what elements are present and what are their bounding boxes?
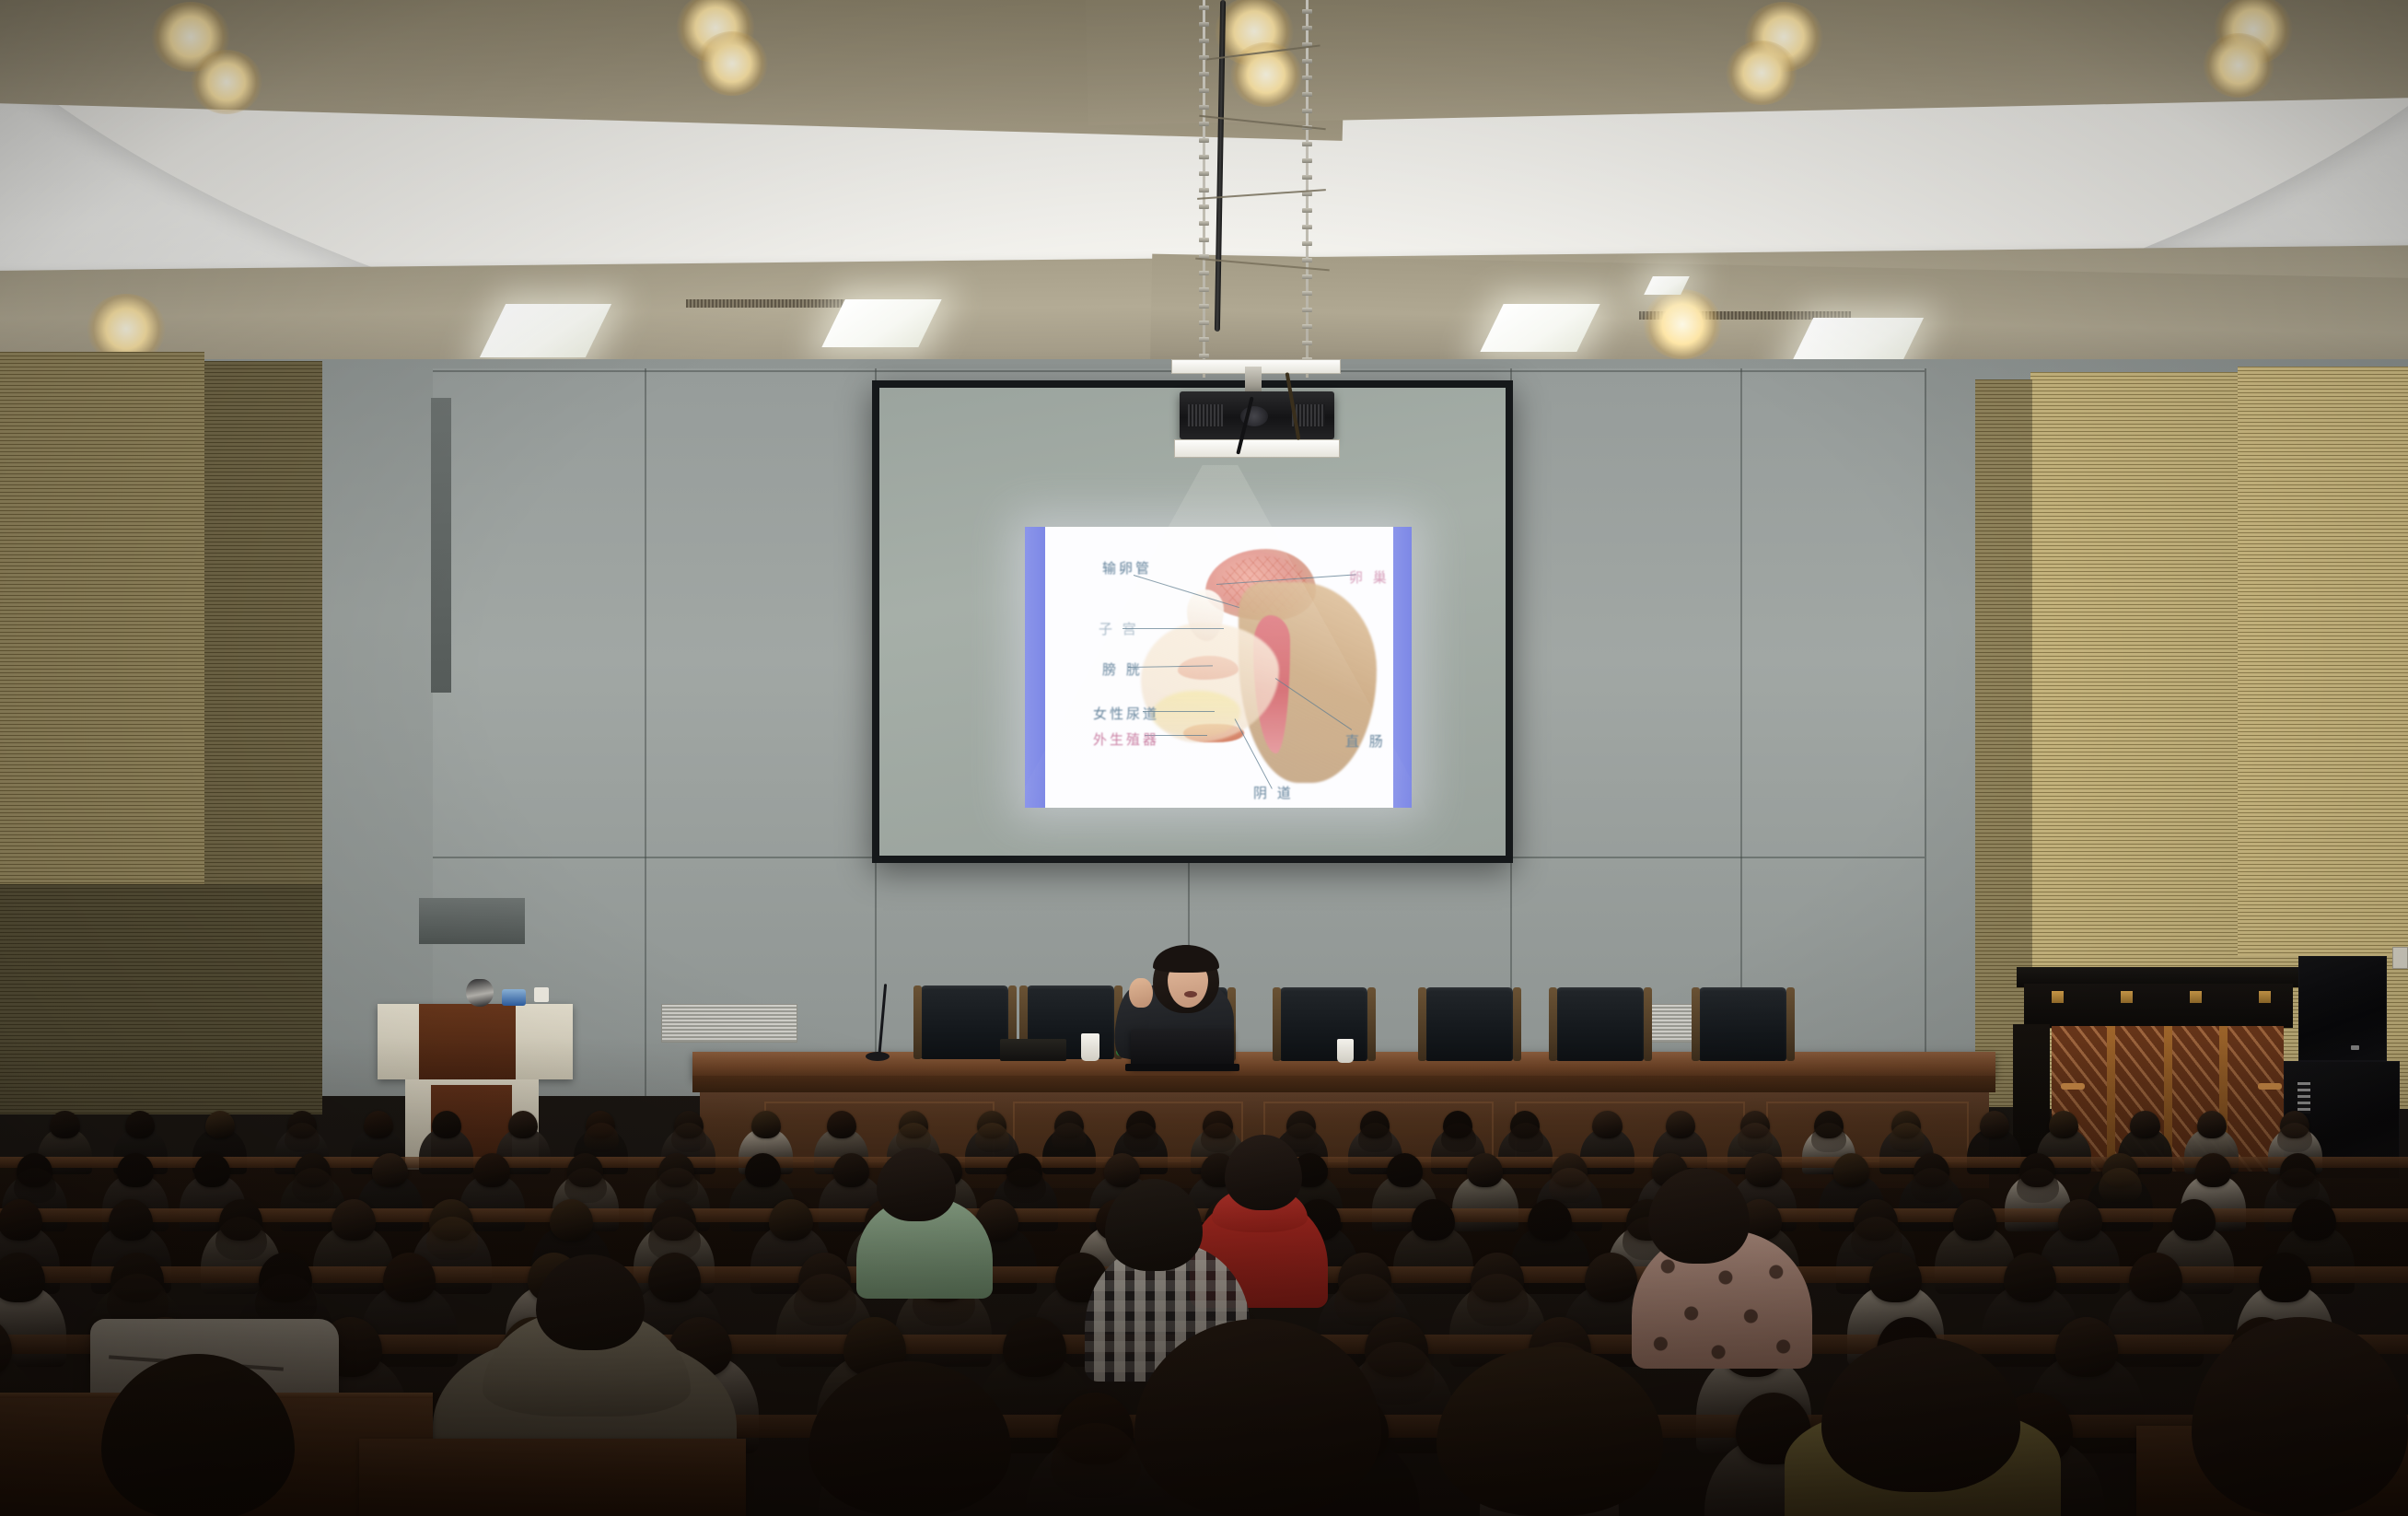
downlight-10-glow [2203,33,2274,98]
audience-member-head-r1-2 [194,1153,230,1187]
projector-rail-nut-left-18 [1199,304,1209,309]
audience-member-hairlock-r1-23 [2099,1168,2141,1204]
acoustic-panel-left-3 [0,884,322,1114]
projector-rail-nut-right-1 [1302,26,1312,30]
head-table-panel-1 [764,1102,995,1162]
head-table-riser [692,1076,1995,1092]
chair-1-arm-left [913,985,922,1059]
projector-rail-nut-right-0 [1302,9,1312,14]
downlight-4-glow [696,31,768,96]
projector-vent-left [1188,404,1223,426]
wall-plate-right [2392,947,2408,969]
projector-rail-nut-left-14 [1199,238,1209,242]
projector-rail-nut-left-2 [1199,39,1209,43]
audience-member-head-r0-26 [2049,1111,2078,1138]
piano-handle-left [2061,1083,2085,1090]
audience-member-head-r1-5 [474,1153,510,1187]
audience-member-head-r0-2 [205,1111,235,1138]
lecturer-laptop-base [1125,1064,1239,1071]
audience-member-head-r2-19 [2058,1199,2102,1241]
piano-brass-stud-3 [2190,991,2202,1003]
projector-rail-nut-left-17 [1199,287,1209,292]
wall-mount-screen-left [419,898,525,944]
projector-rail-nut-left-19 [1199,321,1209,325]
slide-label-ovary: 卵 巢 [1349,567,1390,587]
audience-member-hairlock-r0-8 [671,1123,706,1152]
paper-cup-center [1081,1033,1099,1061]
audience-member-head-r1-16 [1467,1153,1503,1187]
audience-member-head-r0-1 [125,1111,155,1138]
audience-member-head-r1-8 [745,1153,781,1187]
projector-rail-nut-right-5 [1302,92,1312,97]
audience-member-head-r2-1 [109,1199,153,1241]
paper-cup-right [1337,1039,1354,1063]
audience-member-hairlock-r0-18 [1441,1123,1476,1152]
projector-rail-nut-right-15 [1302,258,1312,262]
projector-rail-nut-left-20 [1199,337,1209,342]
wall-vent-left [661,1004,797,1043]
pa-speaker-top [2298,956,2387,1061]
projector-rail-nut-right-19 [1302,324,1312,329]
chair-6-arm-left [1549,987,1557,1061]
downlight-12-glow [1643,289,1722,359]
piano-brass-stud-1 [2052,991,2064,1003]
projector-rail-nut-right-18 [1302,308,1312,312]
projector-rail-nut-right-17 [1302,291,1312,296]
wall-seam-v-1 [645,368,646,1096]
podium-top-cup [534,987,549,1002]
projector-rail-nut-left-1 [1199,22,1209,27]
audience-member-head-r3-16 [2129,1253,2181,1302]
audience-desk-foreground-mid [359,1439,746,1516]
projector-rail-nut-right-6 [1302,109,1312,113]
audience-member-head-r3-5 [648,1253,701,1302]
audience-member-head-r0-5 [432,1111,461,1138]
audience-member-head-r0-20 [1592,1111,1622,1138]
piano-slat-divider-1 [2107,1026,2115,1172]
projector-rail-nut-left-7 [1199,122,1209,126]
slide-right-band [1393,527,1412,808]
slide-label-bladder: 膀 胱 [1102,659,1143,679]
chair-5 [1425,987,1513,1061]
audience-member-hairlock-r1-3 [292,1168,334,1204]
pa-speaker-top-logo [2351,1045,2359,1050]
audience-member-head-r1-19 [1745,1153,1781,1187]
audience-member-head-r2-5 [550,1199,594,1241]
slide-left-band [1025,527,1045,808]
audience-member-hairlock-r2-4 [426,1217,478,1260]
chair-1-backrest [921,985,1008,1059]
slide-label-uterus: 子 宫 [1099,619,1139,638]
chair-1 [921,985,1008,1059]
lecturer-hand [1129,978,1153,1008]
piano-upper-panel [2024,984,2293,1028]
projector-rail-nut-right-16 [1302,274,1312,279]
head-table-panel-5 [1766,1102,1969,1162]
chair-7-arm-right [1786,987,1795,1061]
foreground-head-3 [1437,1347,1663,1516]
audience-member-head-r0-9 [751,1111,781,1138]
projector-rail-nut-left-13 [1199,221,1209,226]
audience-member-head-r1-15 [1387,1153,1423,1187]
chair-4-arm-right [1367,987,1376,1061]
projector-rail-nut-right-20 [1302,341,1312,345]
audience-member-hairlock-r0-15 [1201,1123,1236,1152]
projector-rail-right [1306,0,1309,378]
audience-member-hairlock-r1-21 [1911,1168,1953,1204]
audience-member-head-r3-17 [2259,1253,2311,1302]
podium-front-panel [419,1004,516,1079]
projector-rail-nut-right-3 [1302,59,1312,64]
audience-member-head-r2-21 [2292,1199,2336,1241]
downlight-2-glow [191,50,262,114]
projector-rail-nut-left-21 [1199,354,1209,358]
projector-rail-nut-left-10 [1199,171,1209,176]
projector-lower-plate [1174,439,1340,458]
projector-rail-nut-right-10 [1302,175,1312,180]
audience-member-hairlock-r0-7 [584,1123,619,1152]
chair-4-arm-left [1273,987,1281,1061]
audience-member-head-r1-1 [117,1153,153,1187]
microphone-base-left [866,1052,890,1061]
audience-member-head-r1-24 [2195,1153,2231,1187]
wall-mount-left [431,398,451,693]
projector-rail-nut-right-13 [1302,225,1312,229]
projector-mount-arm [1245,367,1262,392]
audience-member-hairlock-r0-22 [1738,1123,1773,1152]
projector-rail-nut-right-9 [1302,158,1312,163]
audience-member-head-r1-4 [372,1153,408,1187]
audience-member-hairlock-r0-19 [1508,1123,1543,1152]
pa-speaker-bottom-grille [2297,1082,2310,1114]
audience-member-head-r0-27 [2130,1111,2159,1138]
projector-rail-nut-left-12 [1199,204,1209,209]
chair-5-backrest [1425,987,1513,1061]
chair-7 [1699,987,1786,1061]
downlight-8-glow [1726,41,1797,105]
audience-member-head-r4-6 [1003,1317,1066,1377]
projector-rail-nut-right-8 [1302,142,1312,146]
lecturer-mouth [1184,991,1197,997]
projector-rail-nut-right-12 [1302,208,1312,213]
audience-member-hairlock-r0-24 [1890,1123,1925,1152]
audience-member-head-r0-28 [2197,1111,2227,1138]
projector-rail-nut-left-4 [1199,72,1209,76]
chair-4-backrest [1280,987,1367,1061]
projector-rail-nut-left-6 [1199,105,1209,110]
wall-seam-v-6 [1925,368,1926,1096]
audience-member-head-r2-7 [769,1199,813,1241]
lecturer-laptop [1131,1030,1234,1068]
chair-7-backrest [1699,987,1786,1061]
audience-member-head-r0-0 [50,1111,79,1138]
chair-4 [1280,987,1367,1061]
audience-member-head-r0-6 [508,1111,538,1138]
chair-6 [1556,987,1644,1061]
projector-rail-nut-left-8 [1199,138,1209,143]
podium-top-bottle [502,989,526,1006]
chair-7-arm-left [1692,987,1700,1061]
audience-member-head-r2-3 [332,1199,376,1241]
projector-rail-nut-right-14 [1302,241,1312,246]
slide-label-rectum: 直 肠 [1345,731,1386,751]
audience-member-head-r2-18 [1953,1199,1997,1241]
piano-brass-stud-2 [2121,991,2133,1003]
slide-canvas: 输卵管 子 宫 膀 胱 女性尿道 外生殖器 卵 巢 直 肠 阴 道 [1025,527,1412,808]
projector-rail-nut-left-9 [1199,155,1209,159]
podium-top-kettle [466,979,494,1007]
audience-member-head-r0-21 [1666,1111,1695,1138]
audience-member-head-r2-14 [1528,1199,1572,1241]
projector-rail-nut-left-0 [1199,6,1209,10]
audience-member-head-r0-25 [1980,1111,2009,1138]
chair-6-arm-right [1644,987,1652,1061]
projector-rail-nut-right-4 [1302,76,1312,80]
slide-label-vagina: 阴 道 [1253,783,1294,802]
audience-member-head-r0-10 [827,1111,856,1138]
audience-member-head-r2-13 [1412,1199,1456,1241]
slide-label-genitalia: 外生殖器 [1093,729,1159,749]
audience-member-hairlock-r1-25 [2276,1168,2319,1204]
chair-5-arm-left [1418,987,1426,1061]
piano-brass-stud-4 [2259,991,2271,1003]
audience-member-head-r2-0 [0,1199,42,1241]
slide-label-fallopian-tube: 输卵管 [1102,558,1152,577]
lecture-hall-photo: 输卵管 子 宫 膀 胱 女性尿道 外生殖器 卵 巢 直 肠 阴 道 [0,0,2408,1516]
piano-handle-right [2258,1083,2282,1090]
projector-rail-nut-left-11 [1199,188,1209,192]
audience-member-head-r0-4 [364,1111,393,1138]
audience-member-head-r1-20 [1833,1153,1869,1187]
acoustic-panel-right-3 [2238,367,2408,956]
chair-6-backrest [1556,987,1644,1061]
table-item-dark-box [1000,1039,1066,1061]
projector-rail-nut-left-5 [1199,88,1209,93]
projector-rail-nut-left-16 [1199,271,1209,275]
projector-body [1180,391,1334,439]
chair-5-arm-right [1513,987,1521,1061]
anatomy-yellow-fat [1152,691,1240,737]
slide-label-urethra: 女性尿道 [1093,704,1159,723]
audience-member-hairlock-r1-17 [1549,1168,1591,1204]
audience-member-head-r1-9 [833,1153,869,1187]
